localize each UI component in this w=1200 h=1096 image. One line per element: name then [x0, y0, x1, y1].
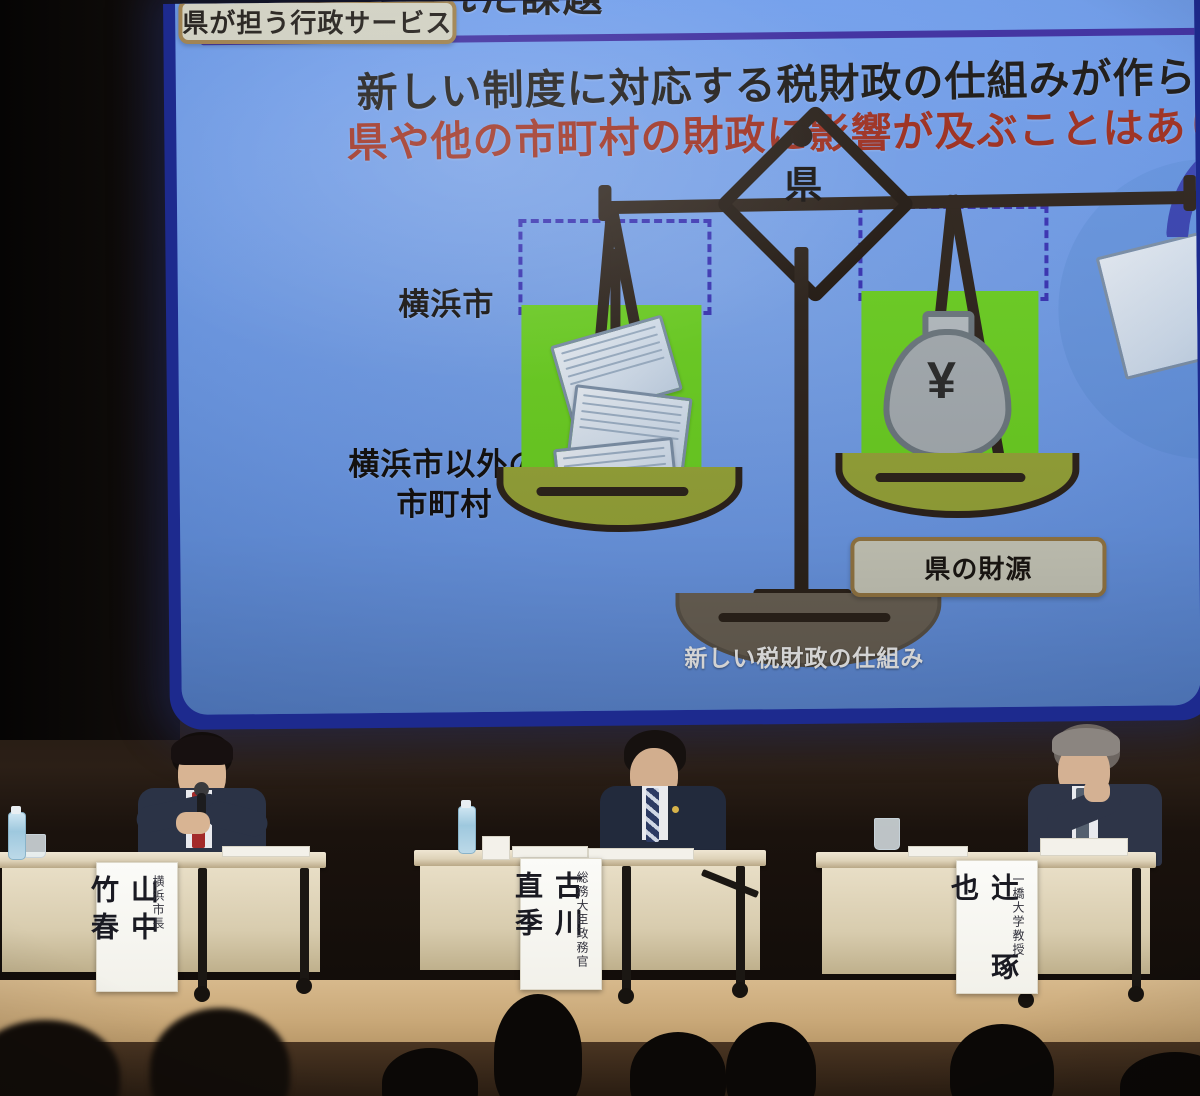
fulcrum-label: 県 — [748, 154, 858, 209]
right-pan-bowl — [835, 453, 1079, 518]
chip-left-service: 県が担う行政サービス — [178, 0, 456, 44]
left-pan-bowl — [496, 467, 742, 532]
yen-symbol: ¥ — [883, 355, 999, 407]
balance-scale-diagram: ¥ 県 新しい税財政の仕組み 県が担う行政サー — [178, 0, 1200, 715]
nameplate-2: 古川 直季 総務大臣政務官 — [520, 858, 602, 990]
scale-base-dish-line — [718, 613, 890, 622]
scale-base-label: 新しい税財政の仕組み — [675, 639, 933, 673]
right-pan-bowl-line — [875, 473, 1025, 482]
scale-beam-right-tip — [1183, 175, 1196, 211]
nameplate-1: 山中 竹春 横浜市長 — [96, 862, 178, 992]
nameplate-2-title: 総務大臣政務官 — [571, 871, 591, 969]
nameplate-3-title: 一橋大学教授 — [1007, 873, 1027, 957]
nameplate-3: 辻 琢也 一橋大学教授 — [956, 860, 1038, 994]
photograph-scene: 答申で示された課題 新しい制度に対応する税財政の仕組みが作られ、 県や他の市町村… — [0, 0, 1200, 1096]
fulcrum-knob — [790, 125, 812, 147]
scale-column — [794, 247, 808, 599]
chip-right-revenue: 県の財源 — [850, 537, 1106, 597]
projection-screen-frame: 答申で示された課題 新しい制度に対応する税財政の仕組みが作られ、 県や他の市町村… — [163, 0, 1200, 730]
nameplate-1-title: 横浜市長 — [147, 875, 167, 931]
hall-left-wall — [0, 0, 180, 740]
left-pan-bowl-line — [536, 487, 688, 496]
projection-screen: 答申で示された課題 新しい制度に対応する税財政の仕組みが作られ、 県や他の市町村… — [175, 0, 1200, 715]
scale-beam-left-tip — [598, 185, 611, 221]
